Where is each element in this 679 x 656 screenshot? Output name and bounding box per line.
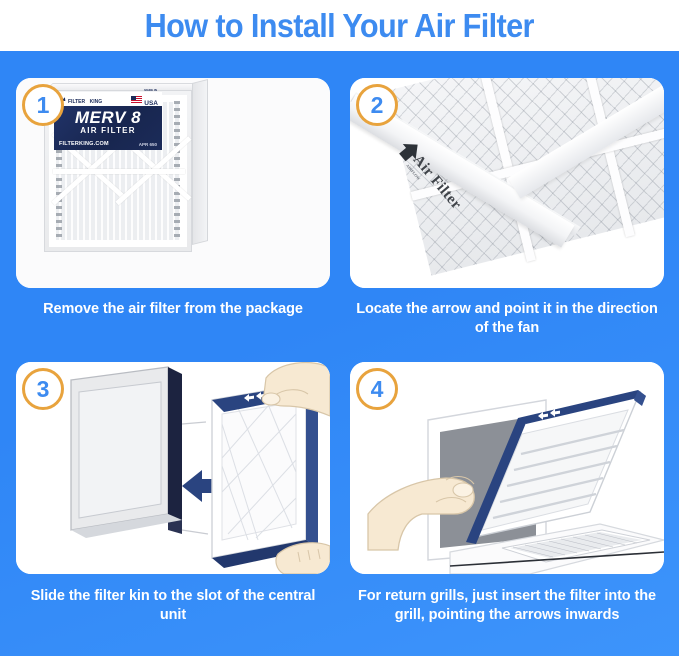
header-band: How to Install Your Air Filter [0, 0, 679, 51]
step-4-caption: For return grills, just insert the filte… [354, 587, 660, 625]
step-3-badge: 3 [22, 368, 64, 410]
made-in-usa-badge: MADE IN USA [131, 88, 158, 110]
step-3: Slide the filter kin to the slot of the … [16, 362, 330, 632]
slot-guide-line [182, 530, 208, 534]
label-subtitle: AIR FILTER [59, 126, 157, 135]
step-2-caption: Locate the arrow and point it in the dir… [356, 300, 658, 338]
slot-guide-line [182, 422, 206, 424]
website-text: FILTERKING.COM [59, 141, 109, 147]
step-1-badge: 1 [22, 84, 64, 126]
label-top-bar: FILTER KING MADE IN USA [54, 92, 162, 106]
step-3-caption: Slide the filter kin to the slot of the … [20, 587, 326, 625]
step-2-badge: 2 [356, 84, 398, 126]
usa-flag-icon [131, 96, 142, 103]
step-4-badge: 4 [356, 368, 398, 410]
product-label: FILTER KING MADE IN USA MERV 8 [54, 92, 162, 150]
filterking-logo: FILTER KING [58, 90, 102, 108]
brand-text: FILTER KING [68, 90, 102, 108]
usa-text-group: MADE IN USA [144, 88, 158, 110]
support-wire-horizontal [53, 169, 185, 174]
merv-rating: MERV 8 [59, 109, 157, 126]
filter-side-face [192, 79, 208, 245]
step-4: For return grills, just insert the filte… [350, 362, 664, 652]
step-1-caption: Remove the air filter from the package [16, 300, 330, 319]
apr-rating-text: APR 650 [139, 142, 157, 147]
infographic-page: How to Install Your Air Filter [0, 0, 679, 656]
central-unit-housing [71, 367, 182, 538]
step-2: Air Filter AIRFLOW Locate the arrow and … [350, 78, 664, 348]
step-1: FILTER KING MADE IN USA MERV 8 [16, 78, 330, 328]
air-filter-object [212, 384, 318, 568]
label-bottom-bar: FILTERKING.COM APR 650 [59, 141, 157, 147]
page-title: How to Install Your Air Filter [145, 7, 534, 45]
